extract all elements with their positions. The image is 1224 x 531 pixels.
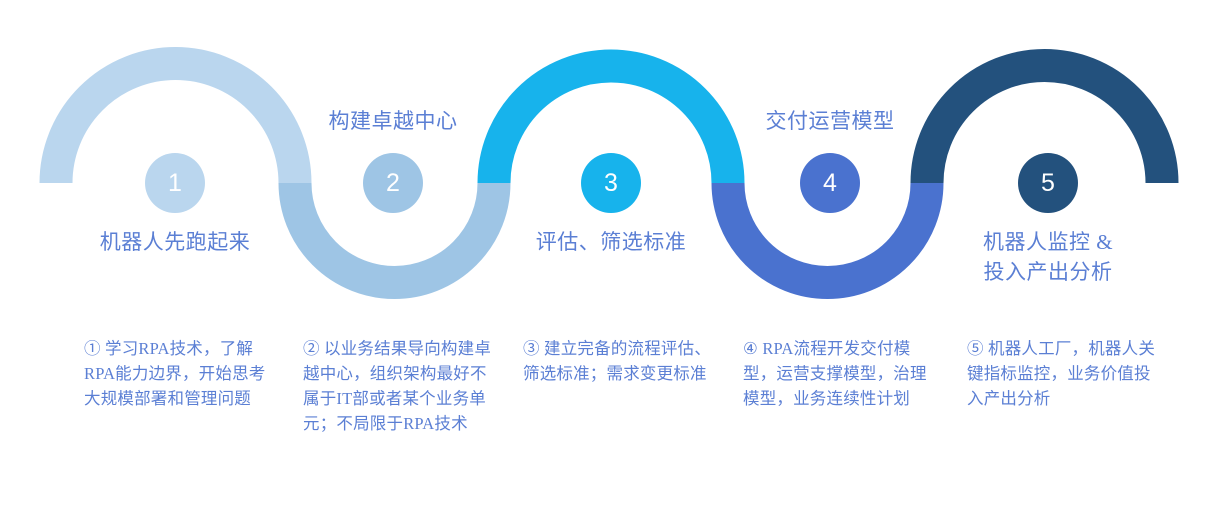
- step-circle-2[interactable]: 2: [363, 153, 423, 213]
- step-description-3: ③ 建立完备的流程评估、筛选标准；需求变更标准: [523, 336, 719, 386]
- step-circle-1[interactable]: 1: [145, 153, 205, 213]
- step-number-5: 5: [1041, 171, 1055, 196]
- step-heading-3: 评估、筛选标准: [516, 227, 706, 257]
- step-heading-5: 机器人监控 & 投入产出分析: [953, 227, 1143, 287]
- step-circle-4[interactable]: 4: [800, 153, 860, 213]
- step-heading-4: 交付运营模型: [735, 106, 925, 136]
- step-description-5: ⑤ 机器人工厂，机器人关键指标监控，业务价值投入产出分析: [967, 336, 1163, 411]
- step-number-4: 4: [823, 171, 837, 196]
- step-circle-3[interactable]: 3: [581, 153, 641, 213]
- step-heading-2: 构建卓越中心: [298, 106, 488, 136]
- step-number-2: 2: [386, 171, 400, 196]
- step-number-1: 1: [168, 171, 182, 196]
- step-circle-5[interactable]: 5: [1018, 153, 1078, 213]
- step-number-3: 3: [604, 171, 618, 196]
- step-description-4: ④ RPA流程开发交付模型，运营支撑模型，治理模型，业务连续性计划: [743, 336, 939, 411]
- step-description-2: ② 以业务结果导向构建卓越中心，组织架构最好不属于IT部或者某个业务单元；不局限…: [303, 336, 499, 436]
- step-description-1: ① 学习RPA技术，了解RPA能力边界，开始思考大规模部署和管理问题: [84, 336, 280, 411]
- step-heading-1: 机器人先跑起来: [80, 227, 270, 257]
- roadmap-diagram: 1 2 3 4 5 机器人先跑起来 构建卓越中心 评估、筛选标准 交付运营模型 …: [0, 0, 1224, 531]
